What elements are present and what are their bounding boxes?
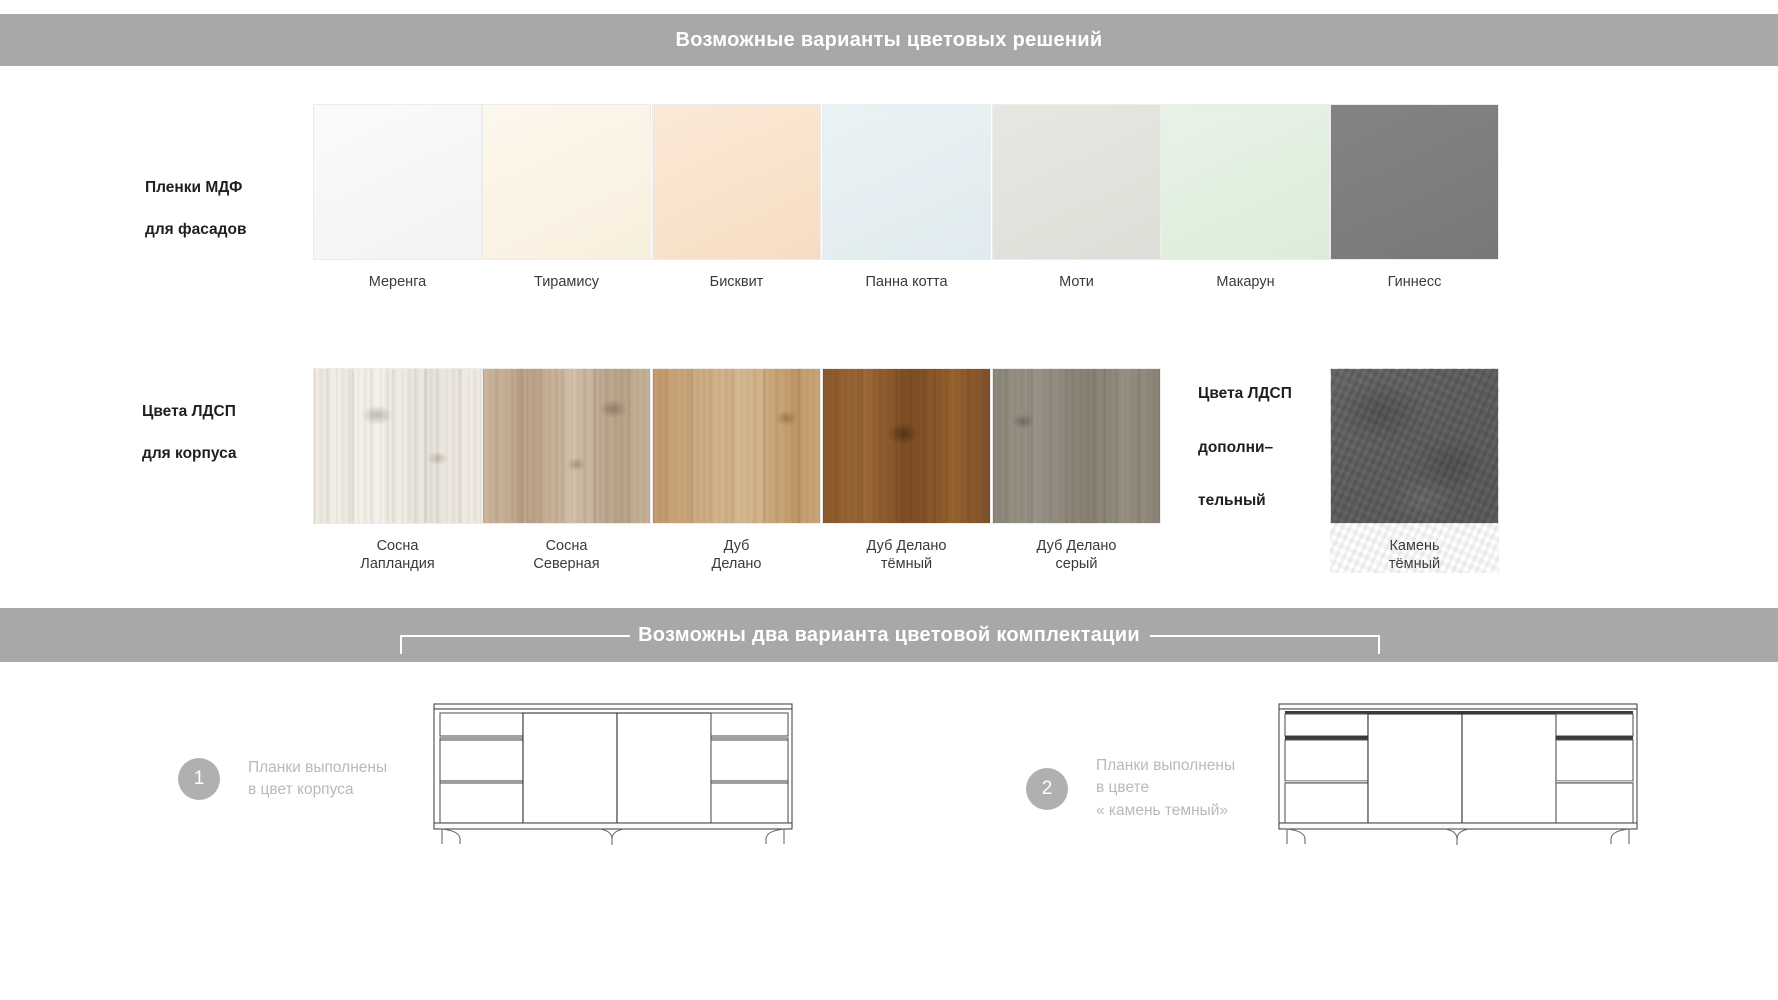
swatch-makarun-label: Макарун [1161,273,1330,291]
sideboard-drawing-variant-1 [430,700,796,850]
swatch-moti-label: Моти [992,273,1161,291]
bracket-right-tick [1378,635,1380,654]
swatch-makarun-chip [1161,104,1330,260]
swatch-ginness[interactable]: Гиннесс [1330,104,1499,291]
variant-2-badge: 2 [1026,768,1068,810]
swatch-sosna-laplandiya-chip [313,368,482,524]
swatch-dub-delano-sery[interactable]: Дуб Делано серый [992,368,1161,573]
swatch-makarun[interactable]: Макарун [1161,104,1330,291]
bracket-right-line [1150,635,1380,637]
swatch-dub-delano[interactable]: Дуб Делано [652,368,821,573]
swatch-biskvit[interactable]: Бисквит [652,104,821,291]
swatch-merenga-label: Меренга [313,273,482,291]
variants-banner-title: Возможны два варианта цветовой комплекта… [638,624,1140,647]
top-banner: Возможные варианты цветовых решений [0,14,1778,66]
swatch-dub-delano-temny-chip [822,368,991,524]
variant-2-note: 2 Планки выполнены в цвете « камень темн… [1026,755,1235,822]
bracket-left-tick [400,635,402,654]
swatch-merenga[interactable]: Меренга [313,104,482,291]
swatch-ginness-chip [1330,104,1499,260]
swatch-dub-delano-temny[interactable]: Дуб Делано тёмный [822,368,991,573]
sideboard-svg-2 [1275,700,1641,845]
variant-2-text: Планки выполнены в цвете « камень темный… [1096,755,1235,822]
swatch-tiramisu-label: Тирамису [482,273,651,291]
swatch-tiramisu-chip [482,104,651,260]
swatch-kamen-temny[interactable]: Камень тёмный [1330,368,1499,573]
swatch-dub-delano-chip [652,368,821,524]
swatch-biskvit-chip [652,104,821,260]
swatch-dub-delano-sery-label: Дуб Делано серый [992,537,1161,573]
variants-banner: Возможны два варианта цветовой комплекта… [0,608,1778,662]
top-banner-title: Возможные варианты цветовых решений [676,29,1103,52]
swatch-dub-delano-sery-chip [992,368,1161,524]
swatch-panna-kotta-label: Панна котта [822,273,991,291]
bracket-left-line [400,635,630,637]
mdf-label-line-2: для фасадов [145,222,246,238]
variant-1-note: 1 Планки выполнены в цвет корпуса [178,757,387,802]
ldsp-section-label: Цвета ЛДСП для корпуса [142,404,237,461]
swatch-sosna-laplandiya[interactable]: Сосна Лапландия [313,368,482,573]
swatch-merenga-chip [313,104,482,260]
swatch-sosna-severnaya[interactable]: Сосна Северная [482,368,651,573]
swatch-panna-kotta-chip [822,104,991,260]
ldsp-extra-label-line-2: дополни– [1198,440,1292,456]
variant-1-text: Планки выполнены в цвет корпуса [248,757,387,802]
swatch-kamen-temny-chip [1330,368,1499,524]
swatch-moti-chip [992,104,1161,260]
swatch-sosna-laplandiya-label: Сосна Лапландия [313,537,482,573]
banner-bracket-left [400,608,630,662]
swatch-sosna-severnaya-label: Сосна Северная [482,537,651,573]
ldsp-label-line-2: для корпуса [142,446,237,462]
swatch-panna-kotta[interactable]: Панна котта [822,104,991,291]
sideboard-drawing-variant-2 [1275,700,1641,850]
ldsp-extra-label-line-3: тельный [1198,493,1292,509]
swatch-moti[interactable]: Моти [992,104,1161,291]
swatch-dub-delano-label: Дуб Делано [652,537,821,573]
variant-1-badge: 1 [178,758,220,800]
sideboard-svg-1 [430,700,796,845]
ldsp-label-line-1: Цвета ЛДСП [142,404,237,420]
swatch-tiramisu[interactable]: Тирамису [482,104,651,291]
mdf-label-line-1: Пленки МДФ [145,180,246,196]
mdf-section-label: Пленки МДФ для фасадов [145,180,246,237]
swatch-ginness-label: Гиннесс [1330,273,1499,291]
banner-bracket-right [1150,608,1380,662]
swatch-biskvit-label: Бисквит [652,273,821,291]
ldsp-extra-label: Цвета ЛДСП дополни– тельный [1198,386,1292,509]
ldsp-extra-label-line-1: Цвета ЛДСП [1198,386,1292,402]
swatch-dub-delano-temny-label: Дуб Делано тёмный [822,537,991,573]
swatch-sosna-severnaya-chip [482,368,651,524]
